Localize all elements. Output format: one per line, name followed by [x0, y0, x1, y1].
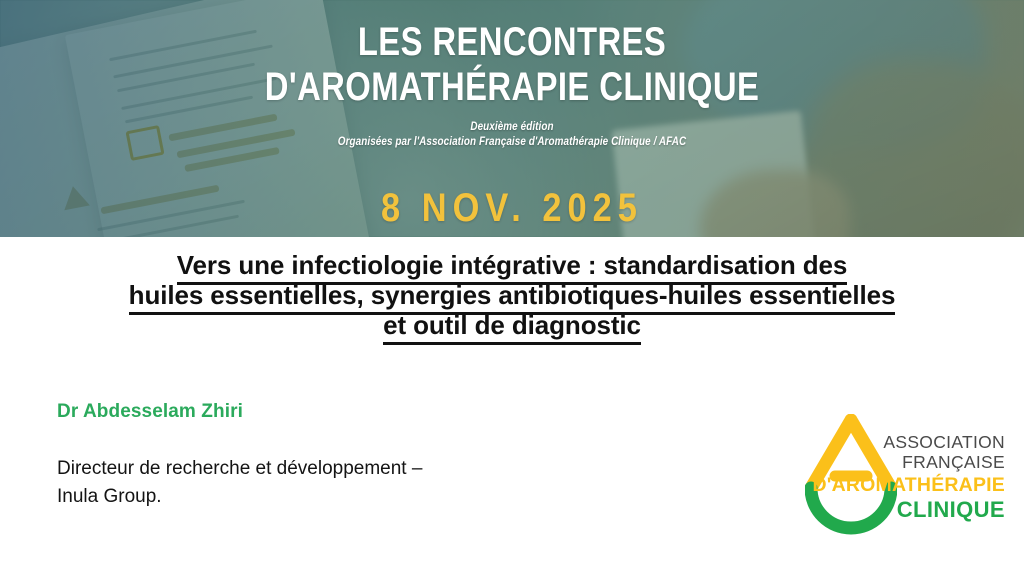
- event-subtitle-line1: Deuxième édition: [72, 120, 953, 135]
- event-title-line1: LES RENCONTRES: [92, 20, 932, 65]
- talk-title-line3: et outil de diagnostic: [383, 310, 641, 345]
- logo-line-clinique: CLINIQUE: [871, 497, 1005, 522]
- talk-title: Vers une infectiologie intégrative : sta…: [28, 250, 996, 340]
- speaker-role-line1: Directeur de recherche et développement …: [57, 455, 657, 483]
- logo-line-francaise: FRANÇAISE: [871, 452, 1005, 472]
- event-title: LES RENCONTRES D'AROMATHÉRAPIE CLINIQUE: [92, 20, 932, 110]
- speaker-role-line2: Inula Group.: [57, 483, 657, 511]
- event-title-line2: D'AROMATHÉRAPIE CLINIQUE: [92, 65, 932, 110]
- logo-wordmark: ASSOCIATION FRANÇAISE D'AROMATHÉRAPIE CL…: [871, 432, 1005, 522]
- afac-logo: ASSOCIATION FRANÇAISE D'AROMATHÉRAPIE CL…: [805, 412, 1005, 544]
- event-subtitle: Deuxième édition Organisées par l'Associ…: [72, 120, 953, 150]
- presentation-slide: LES RENCONTRES D'AROMATHÉRAPIE CLINIQUE …: [0, 0, 1024, 576]
- speaker-name: Dr Abdesselam Zhiri: [57, 401, 243, 423]
- speaker-role: Directeur de recherche et développement …: [57, 455, 657, 511]
- logo-line-aromatherapie: D'AROMATHÉRAPIE: [799, 473, 1005, 497]
- event-date: 8 NOV. 2025: [72, 186, 953, 230]
- hero-banner: LES RENCONTRES D'AROMATHÉRAPIE CLINIQUE …: [0, 0, 1024, 237]
- event-subtitle-line2: Organisées par l'Association Française d…: [72, 135, 953, 150]
- logo-line-association: ASSOCIATION: [871, 432, 1005, 452]
